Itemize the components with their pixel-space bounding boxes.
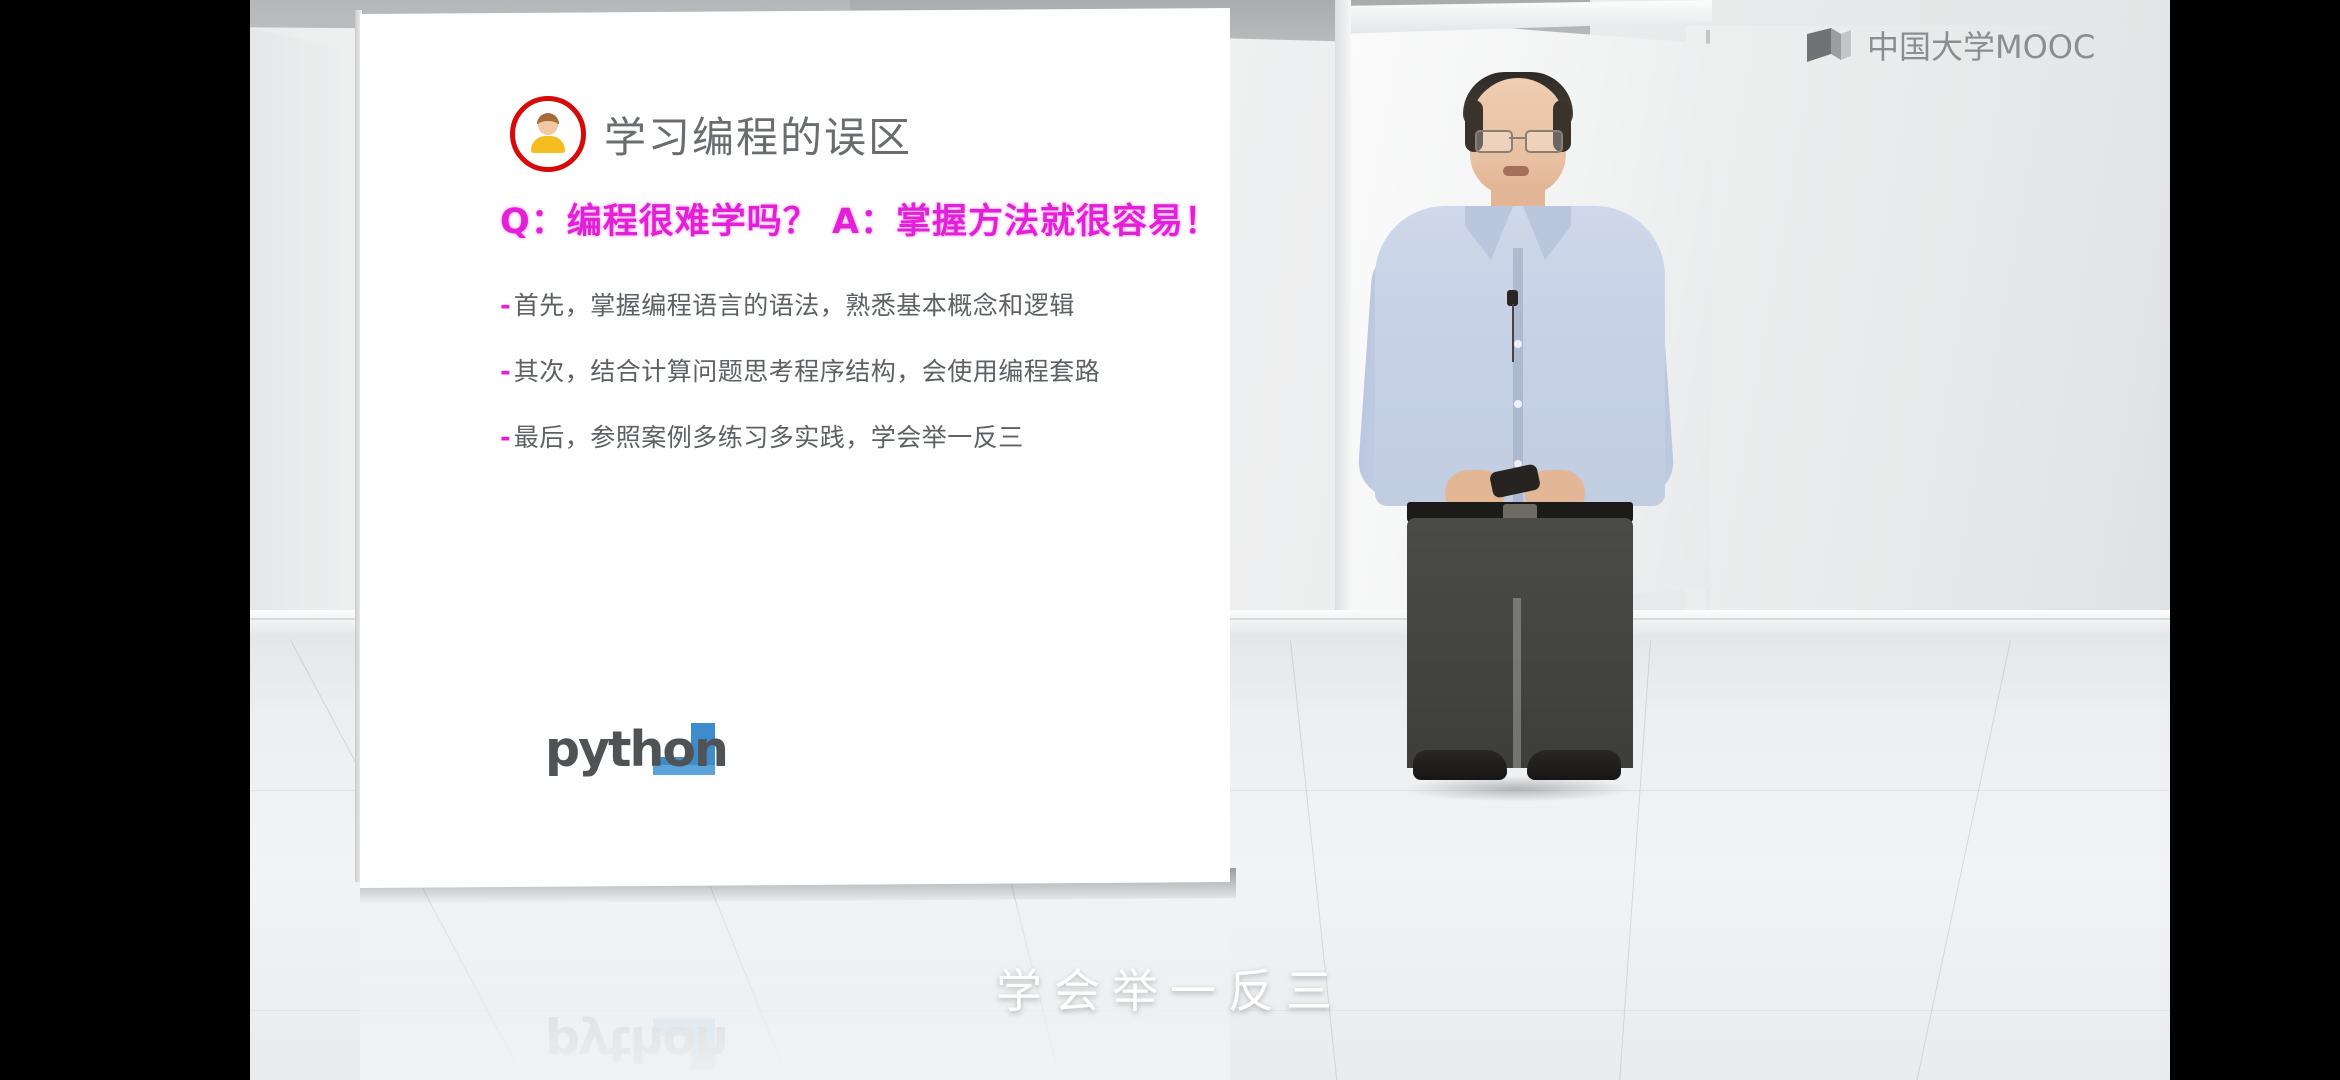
studio-right-far-wall [1686, 26, 2170, 622]
slide-content: 学习编程的误区 Q：编程很难学吗？ A：掌握方法就很容易！ - 首先，掌握编程语… [360, 8, 1230, 888]
video-player-frame: 学习编程的误区 Q：编程很难学吗？ A：掌握方法就很容易！ - 首先，掌握编程语… [0, 0, 2340, 1080]
slide-panel: 学习编程的误区 Q：编程很难学吗？ A：掌握方法就很容易！ - 首先，掌握编程语… [360, 8, 1230, 888]
presenter-figure [1295, 78, 1725, 768]
list-item: - 最后，参照案例多练习多实践，学会举一反三 [500, 418, 1200, 454]
glasses-lens-left [1475, 130, 1513, 153]
python-wordmark: python [545, 721, 727, 778]
qa-highlight-line: Q：编程很难学吗？ A：掌握方法就很容易！ [500, 193, 1220, 244]
page-title: 学习编程的误区 [604, 104, 912, 165]
bullet-text: 其次，结合计算问题思考程序结构，会使用编程套路 [514, 352, 1101, 388]
presenter-leg-gap [1513, 598, 1521, 768]
bullet-dash: - [500, 291, 511, 321]
book-mark-icon [1805, 24, 1855, 66]
person-avatar-icon [510, 96, 586, 172]
glasses-bridge [1509, 137, 1525, 139]
bullet-list: - 首先，掌握编程语言的语法，熟悉基本概念和逻辑 - 其次，结合计算问题思考程序… [500, 286, 1200, 484]
list-item: - 其次，结合计算问题思考程序结构，会使用编程套路 [500, 352, 1200, 388]
glasses-icon [1475, 130, 1563, 150]
shirt-button [1514, 340, 1522, 348]
shirt-button [1514, 400, 1522, 408]
avatar-body [531, 136, 565, 153]
slide-title-row: 学习编程的误区 [510, 96, 912, 172]
bullet-text: 最后，参照案例多练习多实践，学会举一反三 [514, 418, 1024, 454]
presenter-shoe-right [1527, 750, 1621, 780]
video-subtitle: 学会举一反三 [0, 955, 2340, 1021]
letterbox-bar-left [0, 0, 250, 1080]
studio-stage: 学习编程的误区 Q：编程很难学吗？ A：掌握方法就很容易！ - 首先，掌握编程语… [250, 0, 2170, 1080]
bullet-dash: - [500, 423, 511, 453]
glasses-lens-right [1525, 130, 1563, 153]
letterbox-bar-right [2170, 0, 2340, 1080]
list-item: - 首先，掌握编程语言的语法，熟悉基本概念和逻辑 [500, 286, 1200, 322]
mooc-logo-text: 中国大学MOOC [1867, 22, 2095, 68]
microphone-wire [1512, 304, 1514, 362]
presenter-mouth [1503, 166, 1529, 176]
mooc-brand-logo: 中国大学MOOC [1805, 22, 2095, 68]
bullet-dash: - [500, 357, 511, 387]
presenter-shoe-left [1413, 750, 1507, 780]
python-logo: python [545, 713, 725, 783]
bullet-text: 首先，掌握编程语言的语法，熟悉基本概念和逻辑 [514, 286, 1075, 322]
avatar-head [538, 115, 558, 135]
